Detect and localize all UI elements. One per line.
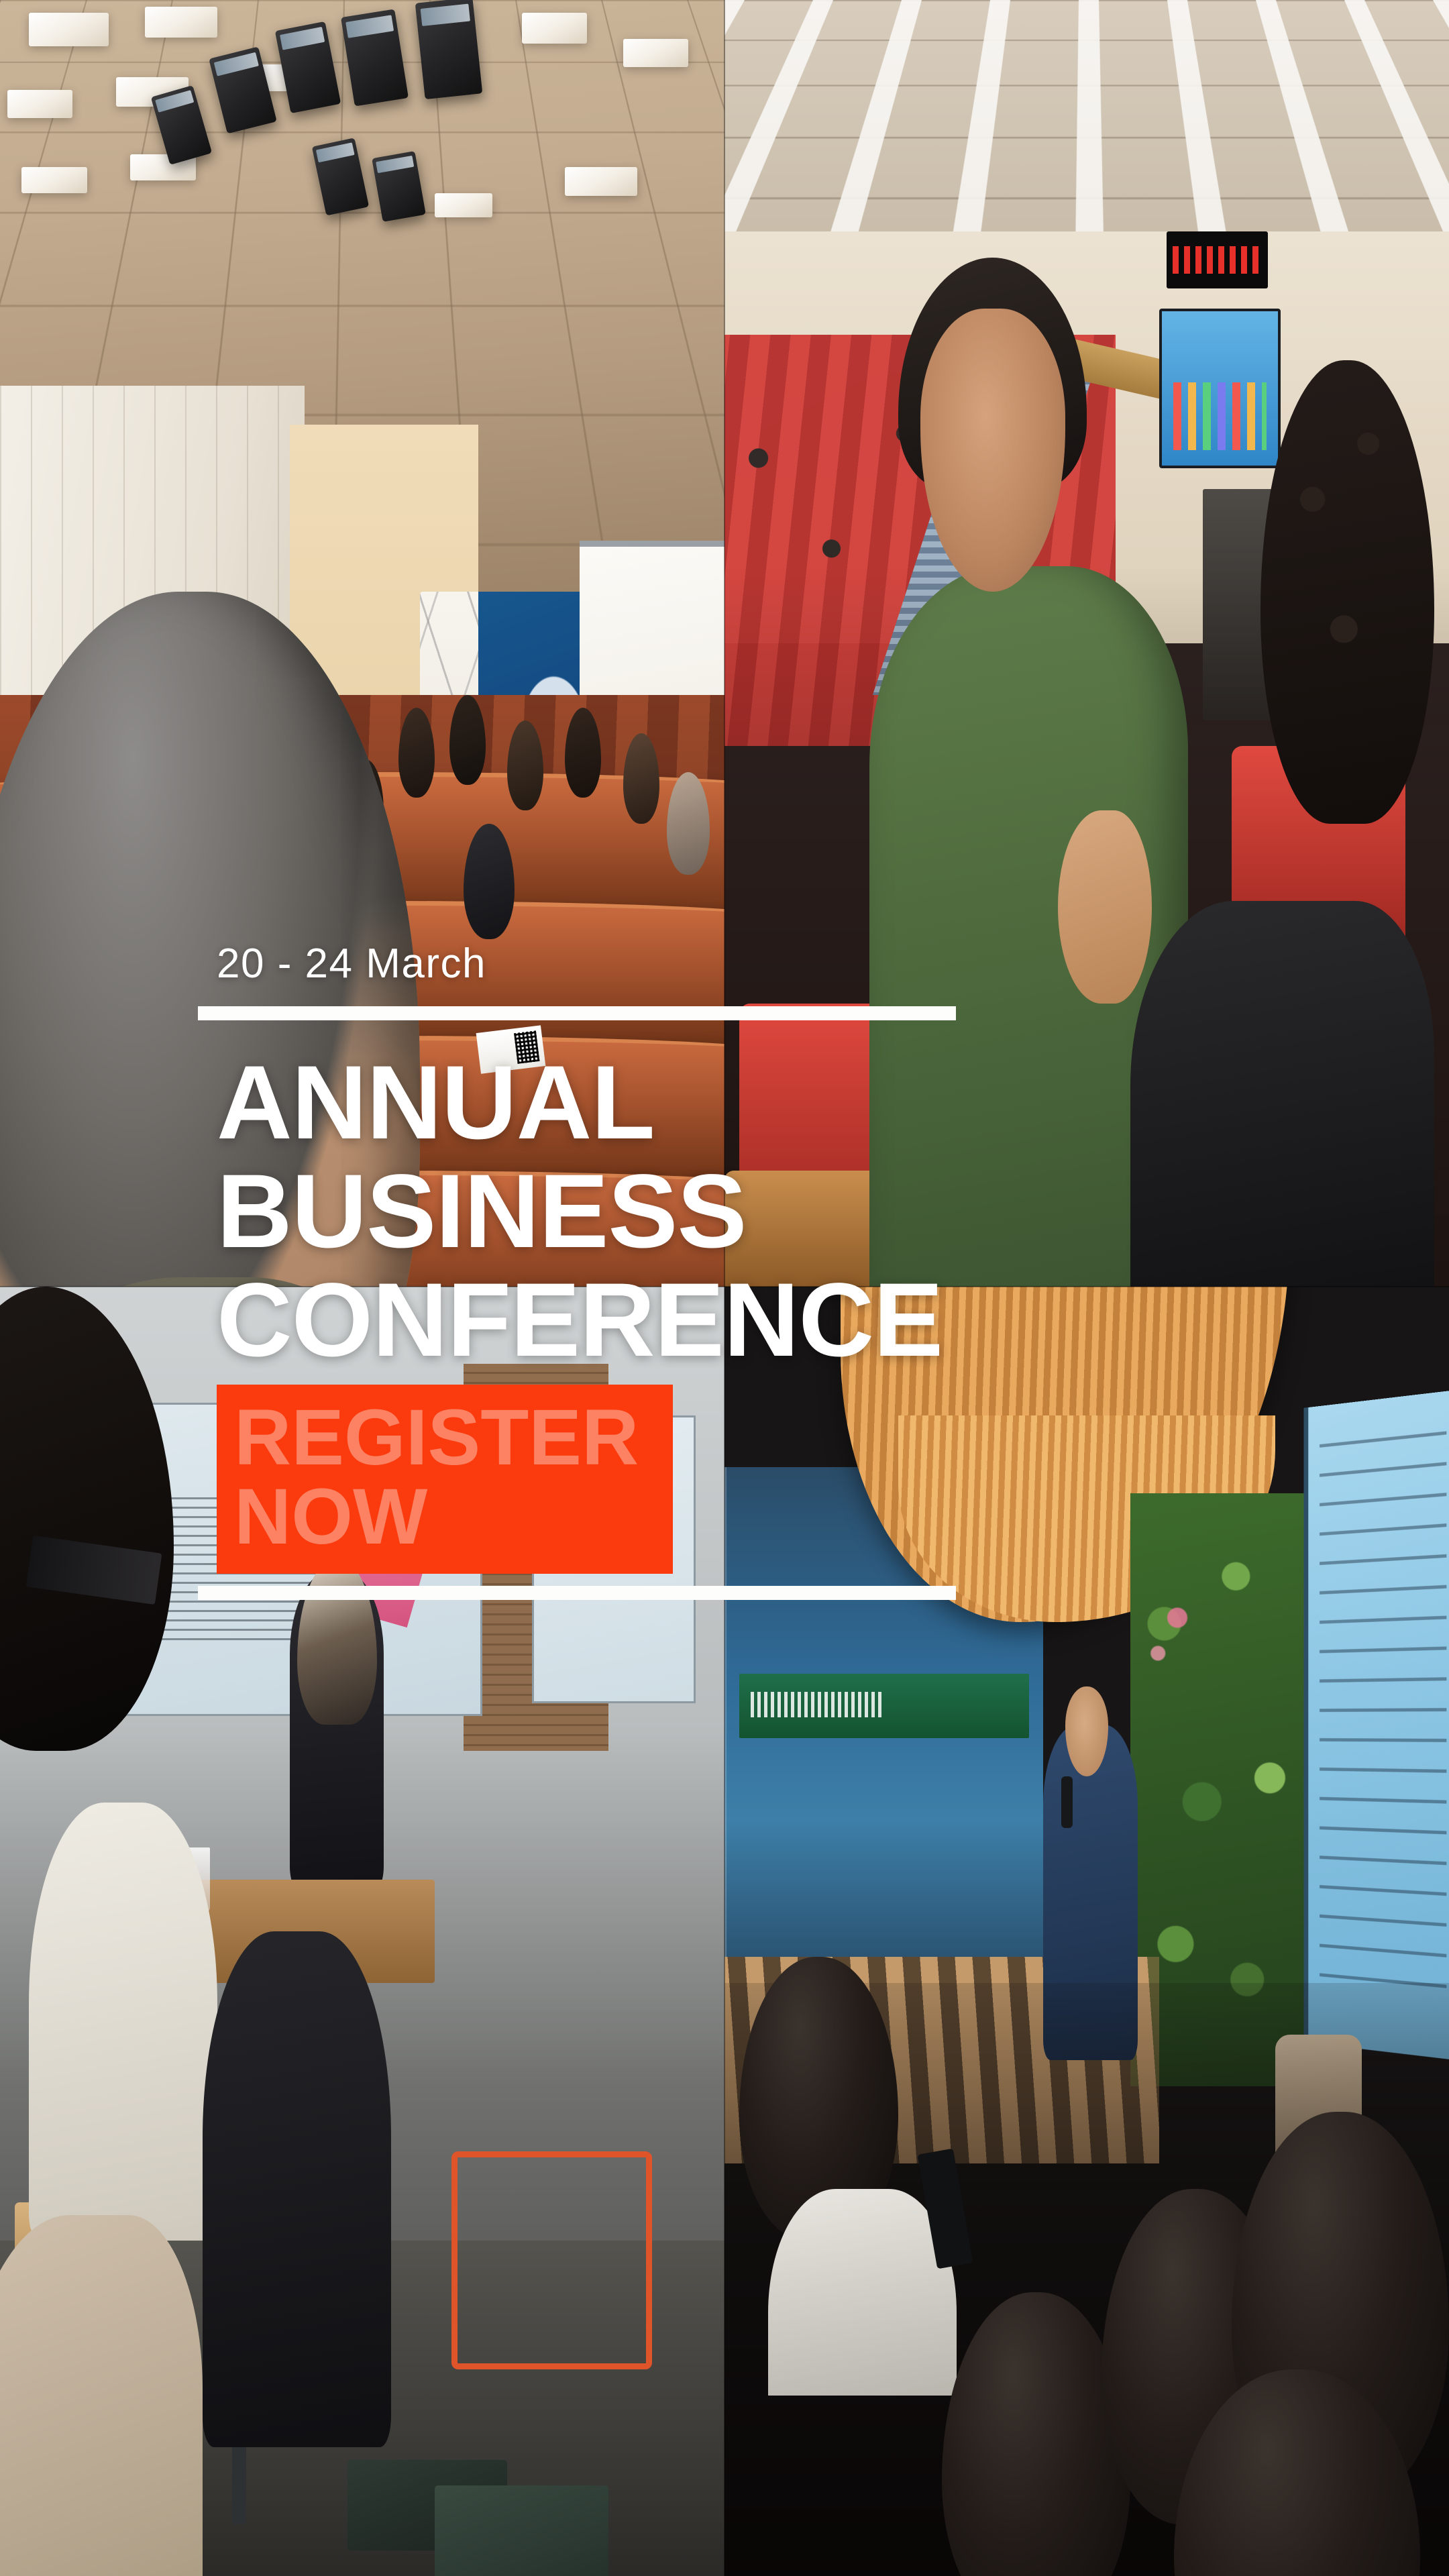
headline-line-1: ANNUAL <box>217 1049 956 1157</box>
ceiling-light <box>145 7 217 38</box>
seated-attendee <box>203 1931 391 2447</box>
divider-rule-top <box>198 1006 956 1020</box>
information-board <box>1303 1390 1449 2060</box>
storefront-sign <box>739 1674 1029 1738</box>
ceiling-light <box>522 13 587 44</box>
microphone-icon <box>1061 1776 1073 1828</box>
orange-chair <box>451 2151 652 2370</box>
event-dates: 20 - 24 March <box>217 943 956 985</box>
divider-rule-bottom <box>198 1586 956 1600</box>
ceiling-light <box>435 193 492 217</box>
foreground-shoulder <box>0 2215 203 2576</box>
headline-line-2: BUSINESS <box>217 1157 956 1266</box>
register-now-button[interactable]: REGISTER NOW <box>217 1385 673 1574</box>
board-text-lines <box>1320 1431 1447 2006</box>
digital-timer <box>1167 231 1268 288</box>
audience-shirt-collar <box>768 2189 957 2396</box>
ceiling-light <box>29 13 109 46</box>
folded-jacket <box>1130 901 1435 1287</box>
screen-graphic <box>1173 382 1266 450</box>
stage-spotlight <box>415 0 483 99</box>
page-title: ANNUAL BUSINESS CONFERENCE <box>198 1049 956 1375</box>
curly-haired-attendee <box>1260 360 1434 823</box>
ceiling-light <box>21 167 87 193</box>
notebook <box>435 2485 608 2576</box>
text-overlay: 20 - 24 March ANNUAL BUSINESS CONFERENCE… <box>198 943 956 1600</box>
ceiling-light <box>7 90 72 118</box>
conference-poster: 20 - 24 March ANNUAL BUSINESS CONFERENCE… <box>0 0 1449 2576</box>
display-screen <box>1159 309 1281 468</box>
headline-line-3: CONFERENCE <box>217 1266 956 1375</box>
ceiling-light <box>565 167 637 195</box>
ceiling-light <box>623 39 688 67</box>
seated-attendee <box>29 1803 217 2241</box>
clapping-hands <box>1058 810 1152 1004</box>
